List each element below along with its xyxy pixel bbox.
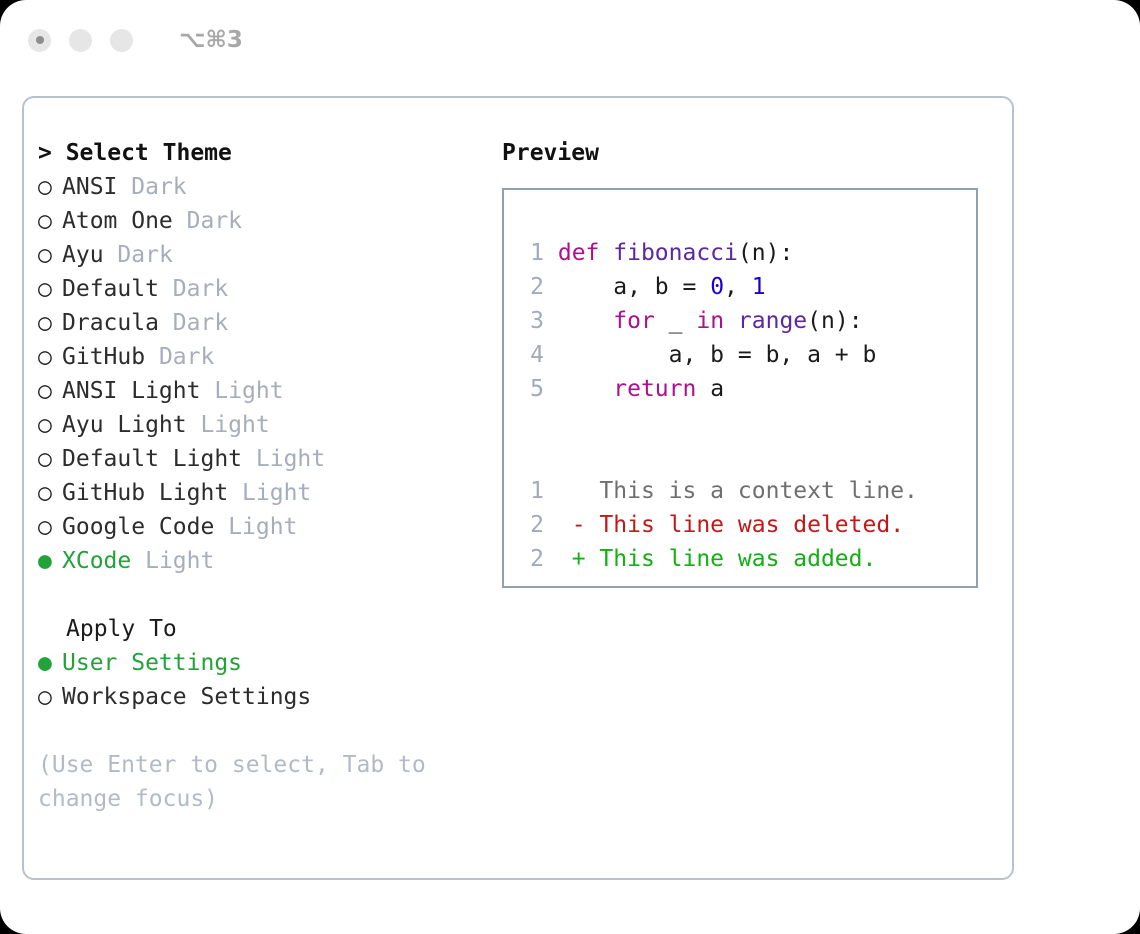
diff-text: This line was deleted. (586, 512, 905, 538)
theme-variant: Light (242, 476, 311, 510)
apply-to-item[interactable]: ●User Settings (38, 646, 478, 680)
preview-pane: Preview 1 def fibonacci(n):2 a, b = 0, 1… (502, 136, 1002, 588)
code-token: n (752, 240, 766, 266)
code-token: def (558, 240, 613, 266)
theme-variant: Light (145, 544, 214, 578)
theme-name: Default (62, 272, 159, 306)
theme-variant: Dark (173, 272, 228, 306)
diff-text: This line was added. (586, 546, 877, 572)
line-number: 4 (522, 338, 544, 372)
diff-sign: + (572, 546, 586, 572)
radio-unselected-icon: ○ (38, 272, 62, 306)
code-token: a, b = b, a + b (558, 342, 877, 368)
code-token (558, 308, 613, 334)
theme-picker-pane: > Select Theme ○ANSI Dark○Atom One Dark○… (38, 136, 478, 816)
theme-name: Atom One (62, 204, 173, 238)
code-line: 1 def fibonacci(n): (522, 236, 876, 270)
radio-unselected-icon: ○ (38, 408, 62, 442)
diff-line: 2 - This line was deleted. (522, 508, 918, 542)
theme-variant: Dark (159, 340, 214, 374)
code-token (558, 376, 613, 402)
theme-variant: Dark (131, 170, 186, 204)
radio-unselected-icon: ○ (38, 238, 62, 272)
theme-name: Google Code (62, 510, 214, 544)
diff-line: 1 This is a context line. (522, 474, 918, 508)
theme-list-item[interactable]: ○Ayu Light Light (38, 408, 478, 442)
theme-list-item[interactable]: ●XCode Light (38, 544, 478, 578)
theme-name: GitHub (62, 340, 145, 374)
diff-sample: 1 This is a context line.2 - This line w… (522, 474, 918, 576)
code-token: a, b = (558, 274, 710, 300)
radio-unselected-icon: ○ (38, 204, 62, 238)
theme-name: Ayu Light (62, 408, 187, 442)
window-dot-inner-icon (36, 36, 44, 44)
code-token: return (613, 376, 696, 402)
radio-unselected-icon: ○ (38, 340, 62, 374)
theme-list-item[interactable]: ○ANSI Dark (38, 170, 478, 204)
radio-selected-icon: ● (38, 646, 62, 680)
theme-list-item[interactable]: ○Ayu Dark (38, 238, 478, 272)
code-token: 1 (752, 274, 766, 300)
theme-variant: Light (228, 510, 297, 544)
apply-to-list[interactable]: ●User Settings○Workspace Settings (38, 646, 478, 714)
spacer (38, 578, 478, 612)
theme-list-item[interactable]: ○GitHub Dark (38, 340, 478, 374)
diff-line-number: 1 (522, 474, 544, 508)
theme-list-item[interactable]: ○ANSI Light Light (38, 374, 478, 408)
keyboard-hint-text: (Use Enter to select, Tab to change focu… (38, 748, 448, 816)
code-token: range (738, 308, 807, 334)
window-dot-minimize[interactable] (69, 29, 92, 52)
preview-header: Preview (502, 136, 1002, 170)
radio-unselected-icon: ○ (38, 442, 62, 476)
theme-name: Default Light (62, 442, 242, 476)
theme-variant: Dark (117, 238, 172, 272)
theme-variant: Light (214, 374, 283, 408)
theme-variant: Light (200, 408, 269, 442)
radio-selected-icon: ● (38, 544, 62, 578)
app-window: ⌥⌘3 > Select Theme ○ANSI Dark○Atom One D… (0, 0, 1140, 934)
preview-box: 1 def fibonacci(n):2 a, b = 0, 13 for _ … (502, 188, 978, 588)
diff-sign (572, 478, 586, 504)
theme-name: ANSI Light (62, 374, 200, 408)
code-token: _ (655, 308, 697, 334)
theme-list-item[interactable]: ○Dracula Dark (38, 306, 478, 340)
code-token: (n): (807, 308, 862, 334)
radio-unselected-icon: ○ (38, 476, 62, 510)
radio-unselected-icon: ○ (38, 510, 62, 544)
theme-variant: Dark (187, 204, 242, 238)
code-line: 3 for _ in range(n): (522, 304, 876, 338)
diff-line-number: 2 (522, 542, 544, 576)
title-bar: ⌥⌘3 (0, 0, 1140, 80)
main-panel: > Select Theme ○ANSI Dark○Atom One Dark○… (22, 96, 1014, 880)
theme-name: GitHub Light (62, 476, 228, 510)
theme-variant: Light (256, 442, 325, 476)
theme-list-item[interactable]: ○Default Dark (38, 272, 478, 306)
code-token: , (724, 274, 752, 300)
code-token: fibonacci (613, 240, 738, 266)
theme-name: ANSI (62, 170, 117, 204)
code-line: 2 a, b = 0, 1 (522, 270, 876, 304)
radio-unselected-icon: ○ (38, 374, 62, 408)
theme-list-item[interactable]: ○Default Light Light (38, 442, 478, 476)
code-line: 5 return a (522, 372, 876, 406)
theme-name: XCode (62, 544, 131, 578)
diff-sign: - (572, 512, 586, 538)
keyboard-shortcut-label: ⌥⌘3 (179, 27, 243, 53)
code-token: for (613, 308, 655, 334)
diff-text: This is a context line. (586, 478, 918, 504)
code-token (724, 308, 738, 334)
radio-unselected-icon: ○ (38, 306, 62, 340)
theme-list-item[interactable]: ○Google Code Light (38, 510, 478, 544)
window-dot-close[interactable] (28, 29, 51, 52)
theme-name: Ayu (62, 238, 104, 272)
line-number: 2 (522, 270, 544, 304)
line-number: 5 (522, 372, 544, 406)
code-token: 0 (710, 274, 724, 300)
radio-unselected-icon: ○ (38, 680, 62, 714)
code-token: ): (766, 240, 794, 266)
window-dot-maximize[interactable] (110, 29, 133, 52)
window-controls (28, 29, 133, 52)
apply-to-item[interactable]: ○Workspace Settings (38, 680, 478, 714)
code-token: a (696, 376, 724, 402)
code-token: in (696, 308, 724, 334)
diff-line: 2 + This line was added. (522, 542, 918, 576)
apply-to-header: Apply To (38, 612, 478, 646)
line-number: 1 (522, 236, 544, 270)
theme-list-item[interactable]: ○Atom One Dark (38, 204, 478, 238)
theme-name: Dracula (62, 306, 159, 340)
code-sample: 1 def fibonacci(n):2 a, b = 0, 13 for _ … (522, 236, 876, 406)
code-token: ( (738, 240, 752, 266)
line-number: 3 (522, 304, 544, 338)
theme-list[interactable]: ○ANSI Dark○Atom One Dark○Ayu Dark○Defaul… (38, 170, 478, 578)
code-line: 4 a, b = b, a + b (522, 338, 876, 372)
theme-variant: Dark (173, 306, 228, 340)
spacer (38, 714, 478, 748)
apply-to-label: Workspace Settings (62, 680, 311, 714)
radio-unselected-icon: ○ (38, 170, 62, 204)
apply-to-label: User Settings (62, 646, 242, 680)
diff-line-number: 2 (522, 508, 544, 542)
select-theme-header: > Select Theme (38, 136, 478, 170)
theme-list-item[interactable]: ○GitHub Light Light (38, 476, 478, 510)
